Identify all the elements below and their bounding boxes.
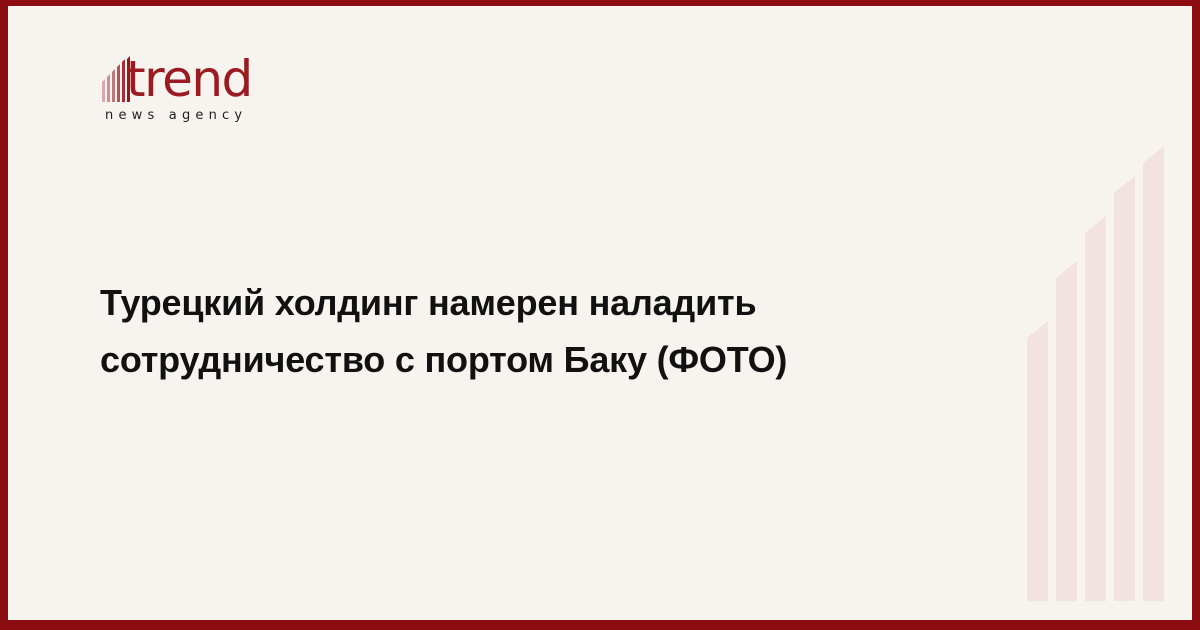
watermark-bar: [1027, 321, 1048, 601]
article-headline: Турецкий холдинг намерен наладить сотруд…: [100, 274, 890, 388]
social-share-card: trend news agency Турецкий холдинг намер…: [0, 0, 1200, 630]
watermark-bar: [1114, 176, 1135, 601]
watermark-bar: [1056, 261, 1077, 601]
card-inner-surface: trend news agency Турецкий холдинг намер…: [8, 6, 1192, 620]
logo-tagline: news agency: [105, 108, 247, 123]
logo-mark-bar: [102, 79, 105, 102]
logo-mark-bar: [122, 59, 125, 102]
logo-wordmark: trend: [126, 50, 252, 108]
watermark-bar: [1085, 216, 1106, 601]
logo-mark-bar: [117, 64, 120, 102]
watermark-bar: [1143, 146, 1164, 601]
logo-mark-bar: [112, 69, 115, 102]
ascending-bars-watermark: [1027, 171, 1177, 601]
trend-logo[interactable]: trend news agency: [96, 50, 336, 136]
logo-mark-bar: [107, 74, 110, 102]
